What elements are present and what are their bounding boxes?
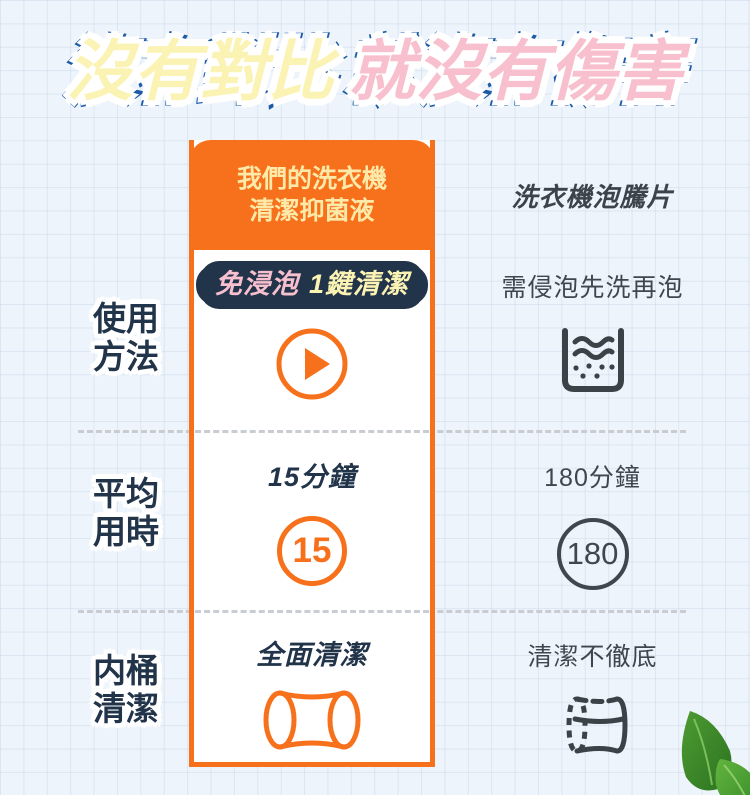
cell-ours-usage-method: 免浸泡1鍵清潔 bbox=[194, 264, 430, 402]
cell-competitor-drum-cleaning: 清潔不徹底 bbox=[435, 637, 750, 757]
ours-time-icon-holder: 15 bbox=[194, 516, 430, 586]
page-title-part-1: 沒有對比 bbox=[67, 26, 335, 116]
row-label-usage-method-text: 使用 方法 bbox=[62, 300, 190, 377]
row-label-average-time: 平均 用時 bbox=[62, 475, 190, 552]
competitor-time-caption: 180分鐘 bbox=[435, 458, 750, 494]
ours-time-value-circle: 15 bbox=[277, 516, 347, 586]
ours-time-value: 15 bbox=[293, 531, 332, 571]
cell-ours-drum-cleaning: 全面清潔 bbox=[194, 633, 430, 752]
competitor-usage-caption: 需侵泡先洗再泡 bbox=[435, 268, 750, 304]
cell-ours-average-time: 15分鐘 15 bbox=[194, 455, 430, 586]
competitor-time-icon-holder: 180 bbox=[435, 518, 750, 590]
ours-drum-caption: 全面清潔 bbox=[194, 633, 430, 672]
ours-drum-icon-holder bbox=[194, 688, 430, 752]
badge-segment-no-soak: 免浸泡 bbox=[215, 269, 299, 299]
drum-dashed-icon bbox=[555, 693, 631, 757]
ours-usage-icon-holder bbox=[194, 326, 430, 402]
cell-competitor-usage-method: 需侵泡先洗再泡 bbox=[435, 268, 750, 396]
row-label-average-time-text: 平均 用時 bbox=[62, 475, 190, 552]
soaking-basin-icon bbox=[556, 326, 630, 396]
competitor-drum-caption: 清潔不徹底 bbox=[435, 637, 750, 673]
row-label-drum-cleaning-text: 内桶 清潔 bbox=[62, 652, 190, 729]
row-divider-2-overlay bbox=[195, 610, 429, 613]
ours-time-caption: 15分鐘 bbox=[194, 455, 430, 494]
drum-solid-icon bbox=[260, 688, 364, 752]
cell-competitor-average-time: 180分鐘 180 bbox=[435, 458, 750, 590]
ours-column-header: 我們的洗衣機 清潔抑菌液 bbox=[189, 140, 435, 250]
play-circle-icon bbox=[274, 326, 350, 402]
ours-column-header-label: 我們的洗衣機 清潔抑菌液 bbox=[237, 163, 387, 228]
competitor-column-header: 洗衣機泡騰片 bbox=[435, 140, 750, 250]
badge-no-soak-one-key: 免浸泡1鍵清潔 bbox=[199, 264, 425, 306]
competitor-column-header-label: 洗衣機泡騰片 bbox=[511, 177, 673, 214]
row-label-usage-method: 使用 方法 bbox=[62, 300, 190, 377]
comparison-table: 我們的洗衣機 清潔抑菌液 洗衣機泡騰片 使用 方法 免浸泡1鍵清潔 需侵泡先洗再… bbox=[0, 140, 750, 795]
row-divider-1-overlay bbox=[195, 430, 429, 433]
competitor-usage-icon-holder bbox=[435, 326, 750, 396]
competitor-drum-icon-holder bbox=[435, 693, 750, 757]
page-title-part-2: 就沒有傷害 bbox=[349, 26, 684, 116]
badge-segment-one-key-clean: 1鍵清潔 bbox=[309, 269, 409, 299]
competitor-time-value: 180 bbox=[567, 536, 619, 572]
page-title: 沒有對比就沒有傷害 bbox=[0, 26, 750, 116]
competitor-time-value-circle: 180 bbox=[557, 518, 629, 590]
row-label-drum-cleaning: 内桶 清潔 bbox=[62, 652, 190, 729]
